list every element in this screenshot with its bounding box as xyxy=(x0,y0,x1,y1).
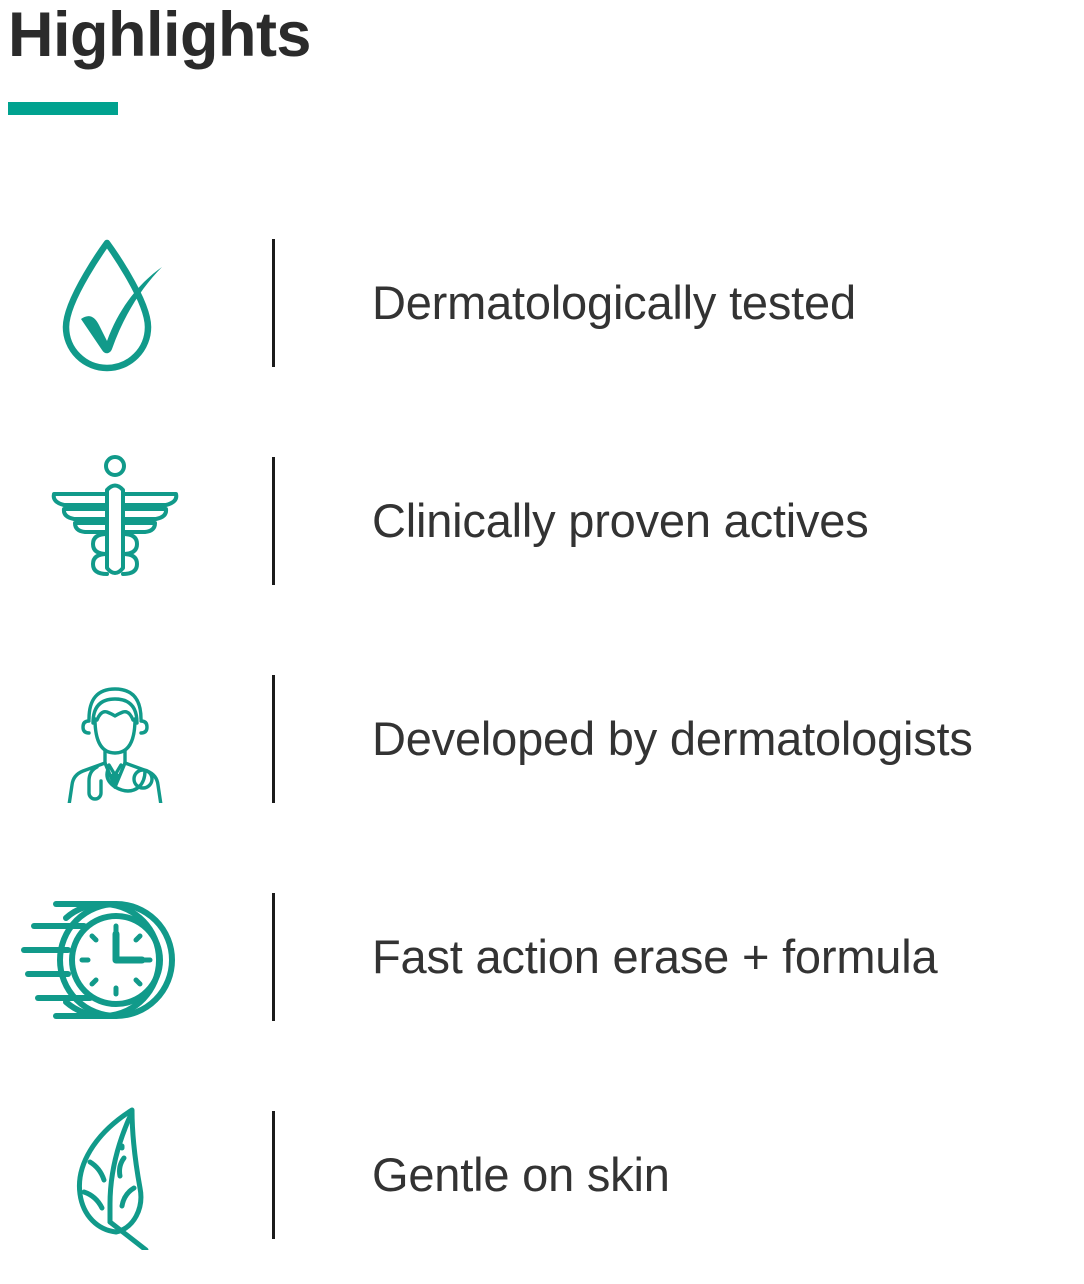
highlight-icon-cell xyxy=(0,412,220,630)
list-item: Dermatologically tested xyxy=(0,194,1084,412)
list-item: Developed by dermatologists xyxy=(0,630,1084,848)
highlight-label: Clinically proven actives xyxy=(372,493,1084,549)
caduceus-icon xyxy=(44,450,186,592)
highlight-icon-cell xyxy=(0,848,220,1066)
water-drop-check-icon xyxy=(50,233,180,373)
page-header: Highlights xyxy=(8,0,1008,115)
highlights-page: Highlights Dermatologically tested xyxy=(0,0,1084,1247)
highlight-label-cell: Clinically proven actives xyxy=(275,493,1084,549)
highlight-label-cell: Gentle on skin xyxy=(275,1147,1084,1203)
fast-clock-icon xyxy=(6,890,178,1024)
list-item: Gentle on skin xyxy=(0,1066,1084,1284)
highlight-icon-cell xyxy=(0,194,220,412)
highlight-label: Dermatologically tested xyxy=(372,275,1084,331)
list-item: Fast action erase + formula xyxy=(0,848,1084,1066)
highlight-label: Fast action erase + formula xyxy=(372,929,1084,985)
list-item: Clinically proven actives xyxy=(0,412,1084,630)
feather-icon xyxy=(60,1100,170,1250)
highlight-label: Gentle on skin xyxy=(372,1147,1084,1203)
highlight-icon-cell xyxy=(0,630,220,848)
highlights-list: Dermatologically tested xyxy=(0,194,1084,1284)
title-underline-rule xyxy=(8,102,118,115)
page-title: Highlights xyxy=(8,0,1008,70)
highlight-icon-cell xyxy=(0,1066,220,1284)
highlight-label-cell: Dermatologically tested xyxy=(275,275,1084,331)
doctor-icon xyxy=(51,675,179,803)
highlight-label-cell: Developed by dermatologists xyxy=(275,711,1084,767)
highlight-label-cell: Fast action erase + formula xyxy=(275,929,1084,985)
highlight-label: Developed by dermatologists xyxy=(372,711,1084,767)
